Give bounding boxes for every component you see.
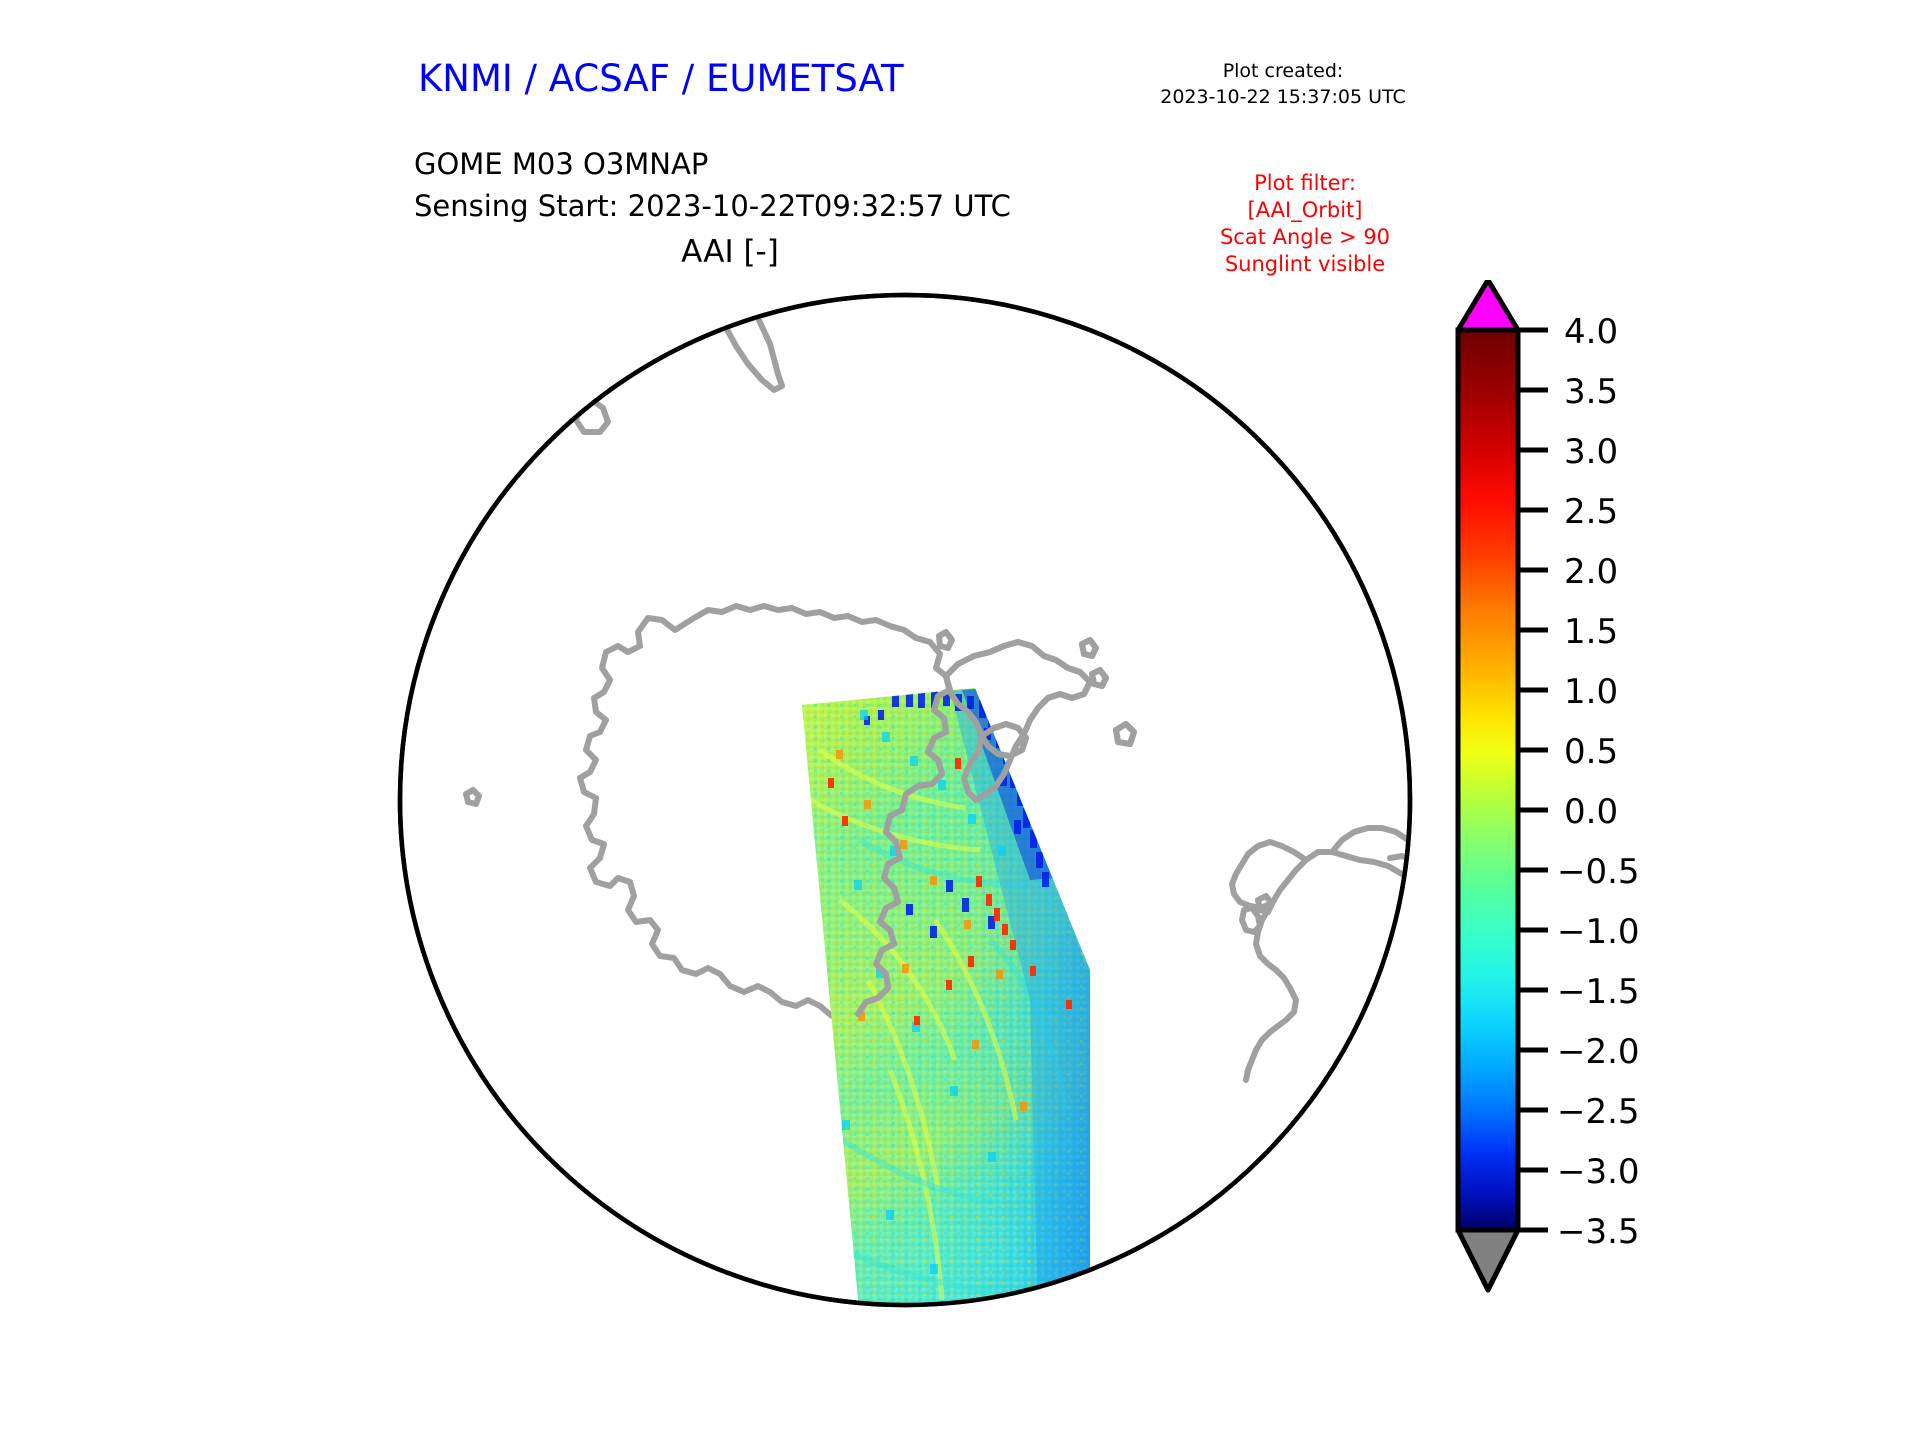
colorbar-tick-label: −1.0 <box>1557 912 1640 952</box>
colorbar-tick-label: −2.0 <box>1557 1032 1640 1072</box>
colorbar-tick-label: 3.5 <box>1564 372 1618 412</box>
colorbar-tick-label: −2.5 <box>1557 1092 1640 1132</box>
colorbar-tick-label: 1.5 <box>1564 612 1618 652</box>
colorbar-under-arrow triangle-down-icon <box>1458 1230 1518 1290</box>
plot-filter-label: Plot filter: <box>1150 170 1460 197</box>
colorbar-tick-label: 2.0 <box>1564 552 1618 592</box>
plot-created-block: Plot created: 2023-10-22 15:37:05 UTC <box>1108 58 1458 110</box>
colorbar-tick-label: −0.5 <box>1557 852 1640 892</box>
colorbar-tick-label: 0.0 <box>1564 792 1618 832</box>
page-title: AAI [-] <box>0 234 1460 270</box>
colorbar-ticks <box>1518 330 1548 1230</box>
colorbar-tick-label: −1.5 <box>1557 972 1640 1012</box>
coastline-island-rim <box>522 382 550 394</box>
coastline-new-zealand-north <box>742 280 764 300</box>
agency-title: KNMI / ACSAF / EUMETSAT <box>418 57 904 100</box>
colorbar-tick-label: −3.0 <box>1557 1152 1640 1192</box>
instrument-line: GOME M03 O3MNAP <box>414 143 1011 185</box>
map-panel <box>390 280 1420 1320</box>
instrument-block: GOME M03 O3MNAP Sensing Start: 2023-10-2… <box>414 143 1011 227</box>
plot-page: KNMI / ACSAF / EUMETSAT Plot created: 20… <box>0 0 1920 1440</box>
colorbar: 4.0 3.5 3.0 2.5 2.0 1.5 1.0 0.5 0.0 −0.5… <box>1440 280 1860 1340</box>
colorbar-tick-label: −3.5 <box>1557 1212 1640 1252</box>
colorbar-tick-labels: 4.0 3.5 3.0 2.5 2.0 1.5 1.0 0.5 0.0 −0.5… <box>1557 312 1640 1252</box>
plot-created-timestamp: 2023-10-22 15:37:05 UTC <box>1108 84 1458 110</box>
colorbar-tick-label: 3.0 <box>1564 432 1618 472</box>
plot-created-label: Plot created: <box>1108 58 1458 84</box>
sensing-start-line: Sensing Start: 2023-10-22T09:32:57 UTC <box>414 185 1011 227</box>
colorbar-tick-label: 0.5 <box>1564 732 1618 772</box>
plot-filter-name: [AAI_Orbit] <box>1150 197 1460 224</box>
colorbar-tick-label: 2.5 <box>1564 492 1618 532</box>
colorbar-gradient-bar <box>1458 330 1518 1230</box>
colorbar-tick-label: 1.0 <box>1564 672 1618 712</box>
colorbar-over-arrow triangle-up-icon <box>1458 280 1518 330</box>
polar-map <box>390 280 1420 1320</box>
colorbar-panel: 4.0 3.5 3.0 2.5 2.0 1.5 1.0 0.5 0.0 −0.5… <box>1440 280 1860 1340</box>
colorbar-tick-label: 4.0 <box>1564 312 1618 352</box>
